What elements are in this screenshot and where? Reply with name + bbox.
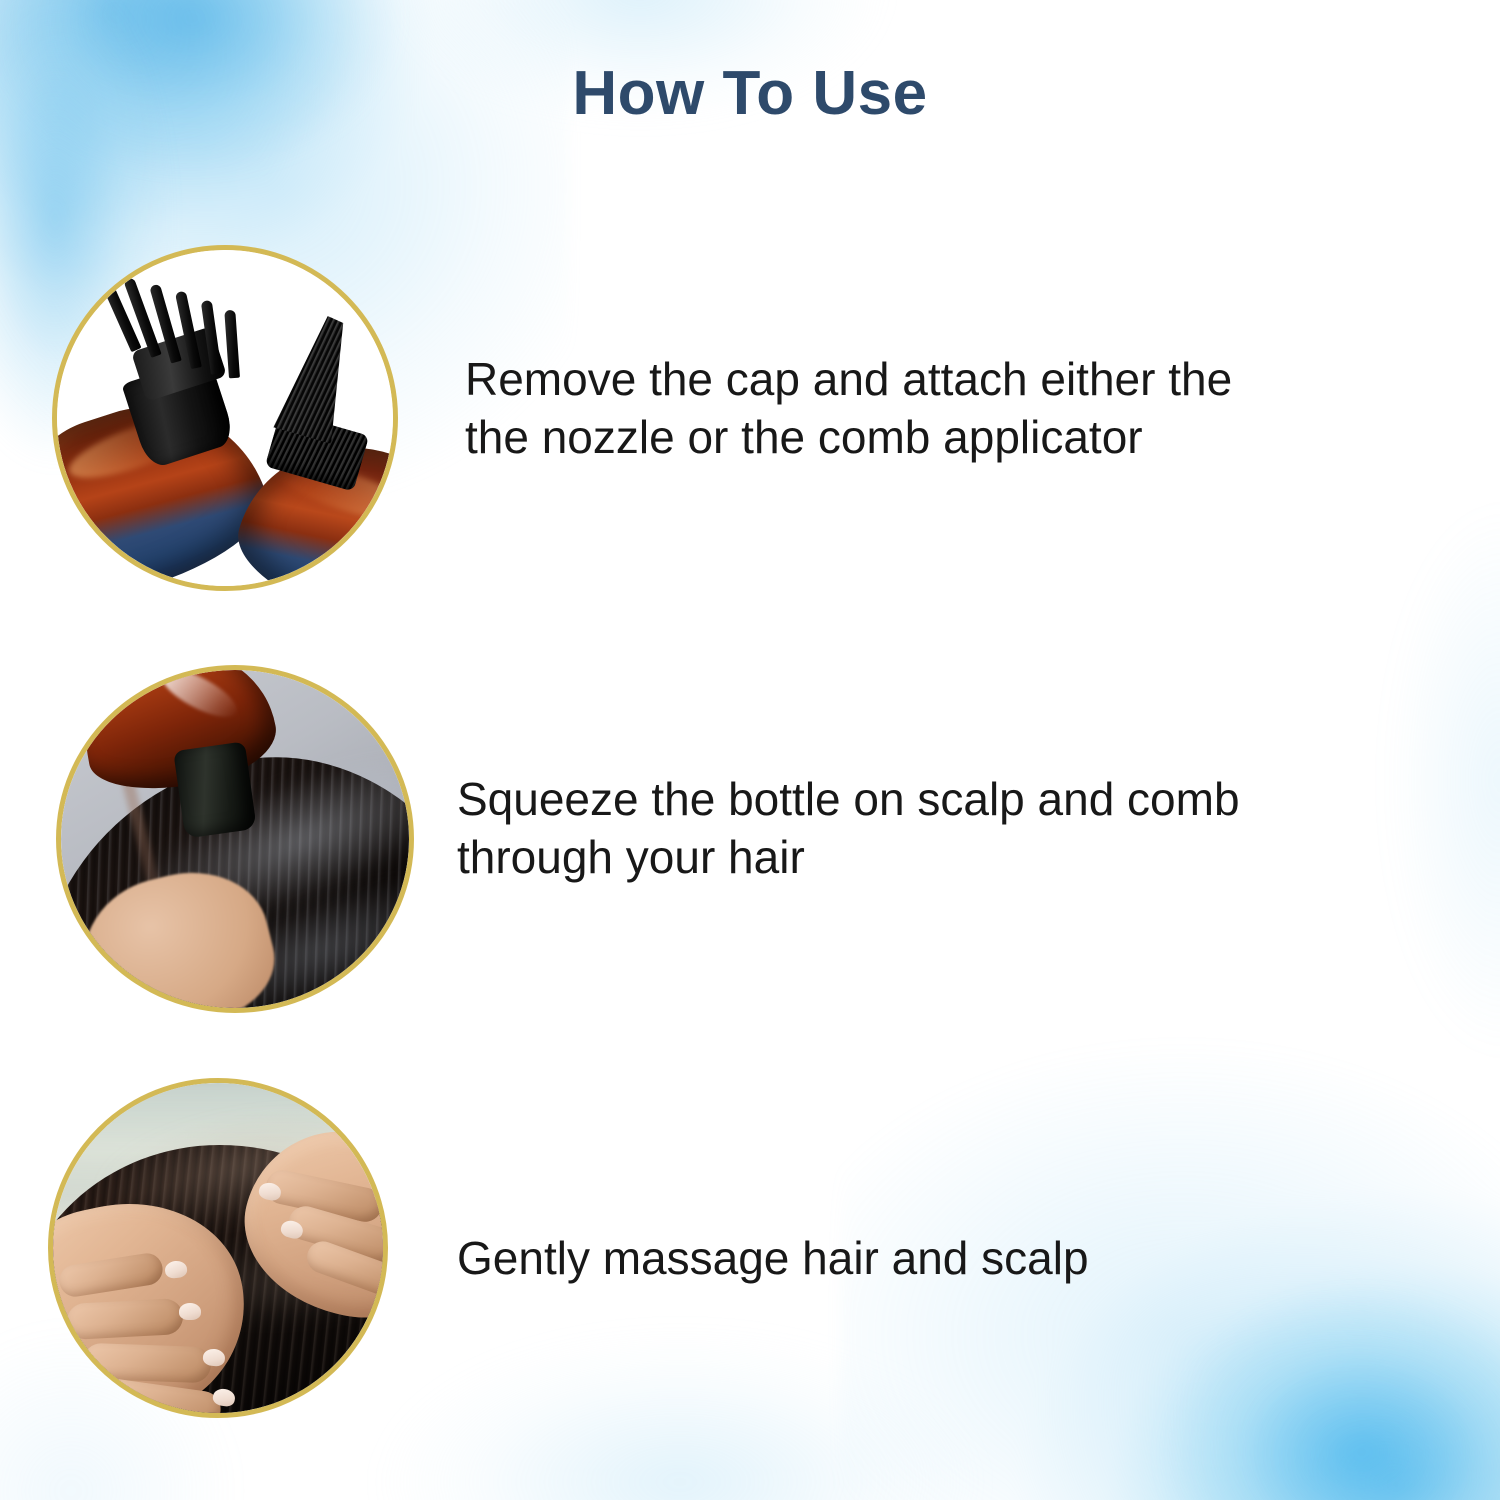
step-3-photo-circle [48, 1078, 388, 1418]
watercolor-wash-bottom-middle [300, 1330, 1060, 1500]
fingernail [179, 1303, 201, 1320]
hands-massaging-scalp-photo [53, 1083, 383, 1413]
finger [82, 1343, 211, 1383]
step-2-text: Squeeze the bottle on scalp and comb thr… [457, 771, 1240, 887]
step-1-photo-circle [52, 245, 398, 591]
step-3-text: Gently massage hair and scalp [457, 1230, 1089, 1288]
step-2-photo-circle [56, 665, 414, 1013]
watercolor-wash-right-edge [1320, 430, 1500, 1130]
watercolor-wash-top-left-accent [0, 0, 500, 270]
watercolor-wash-bottom-right-accent [1060, 1200, 1500, 1500]
page-title: How To Use [0, 58, 1500, 129]
how-to-use-infographic: How To Use [0, 0, 1500, 1500]
bottle-on-scalp-photo [61, 670, 409, 1008]
step-1-text: Remove the cap and attach either the the… [465, 351, 1232, 467]
comb-and-nozzle-applicator-bottles-photo [57, 250, 393, 586]
finger [66, 1298, 184, 1340]
black-applicator-tip [173, 741, 257, 838]
